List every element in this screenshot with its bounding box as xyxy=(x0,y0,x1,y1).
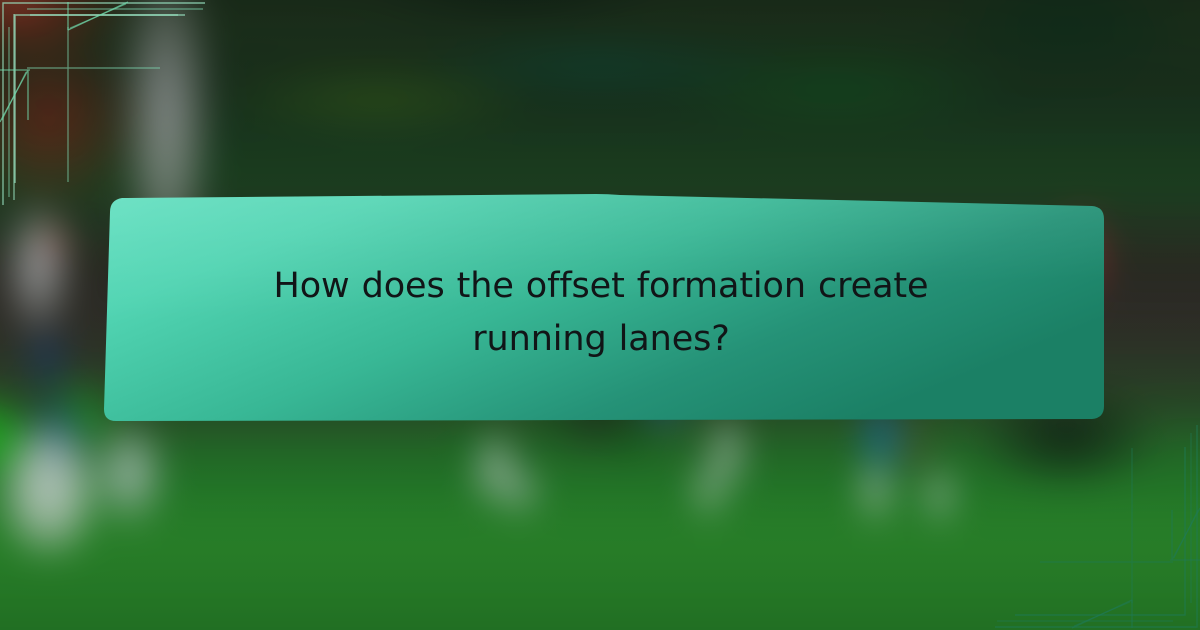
question-card-body: How does the offset formation create run… xyxy=(96,188,1106,428)
social-question-card: How does the offset formation create run… xyxy=(0,0,1200,630)
question-card: How does the offset formation create run… xyxy=(96,188,1106,428)
question-text: How does the offset formation create run… xyxy=(256,260,946,366)
